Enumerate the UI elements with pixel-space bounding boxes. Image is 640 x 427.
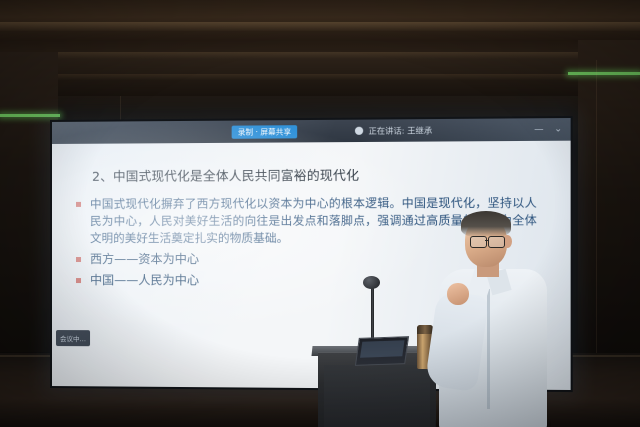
speaker-figure (425, 205, 575, 427)
ceiling-light-strip-3 (0, 74, 640, 80)
recording-badge: 录制 · 屏幕共享 (232, 125, 298, 139)
laptop (355, 336, 409, 366)
active-speaker-status: 正在讲话: 王继承 (355, 125, 432, 137)
ceiling-light-strip-1 (0, 22, 640, 31)
more-options-icon[interactable]: ⌄ (554, 124, 562, 134)
speaker-hair (461, 211, 511, 237)
active-speaker-label: 正在讲话: 王继承 (369, 125, 433, 137)
eyeglasses-bridge (485, 240, 489, 241)
meeting-toolbar[interactable]: 录制 · 屏幕共享 正在讲话: 王继承 — ⌄ (52, 118, 571, 144)
meeting-side-tag[interactable]: 会议中… (56, 330, 90, 346)
lecture-hall-photo: 录制 · 屏幕共享 正在讲话: 王继承 — ⌄ 2、中国式现代化是全体人民共同富… (0, 0, 640, 427)
speaker-hand (447, 283, 469, 305)
green-accent-light-left (0, 114, 60, 117)
shirt-placket (487, 289, 490, 409)
ceiling (0, 0, 640, 96)
microphone-icon (363, 276, 380, 289)
minimize-icon[interactable]: — (534, 124, 544, 134)
right-wall-panel (578, 40, 640, 370)
toolbar-actions[interactable]: — ⌄ (534, 124, 562, 134)
podium-front-panel (324, 365, 430, 427)
wall-seam-2 (596, 60, 597, 360)
ceiling-light-strip-2 (0, 52, 640, 59)
slide-title: 2、中国式现代化是全体人民共同富裕的现代化 (92, 164, 524, 185)
eyeglasses-icon (470, 236, 487, 248)
eyeglasses-lens-right (488, 236, 505, 248)
laptop-screen (360, 340, 404, 357)
microphone-icon (355, 127, 363, 135)
green-accent-light-right (568, 72, 640, 75)
